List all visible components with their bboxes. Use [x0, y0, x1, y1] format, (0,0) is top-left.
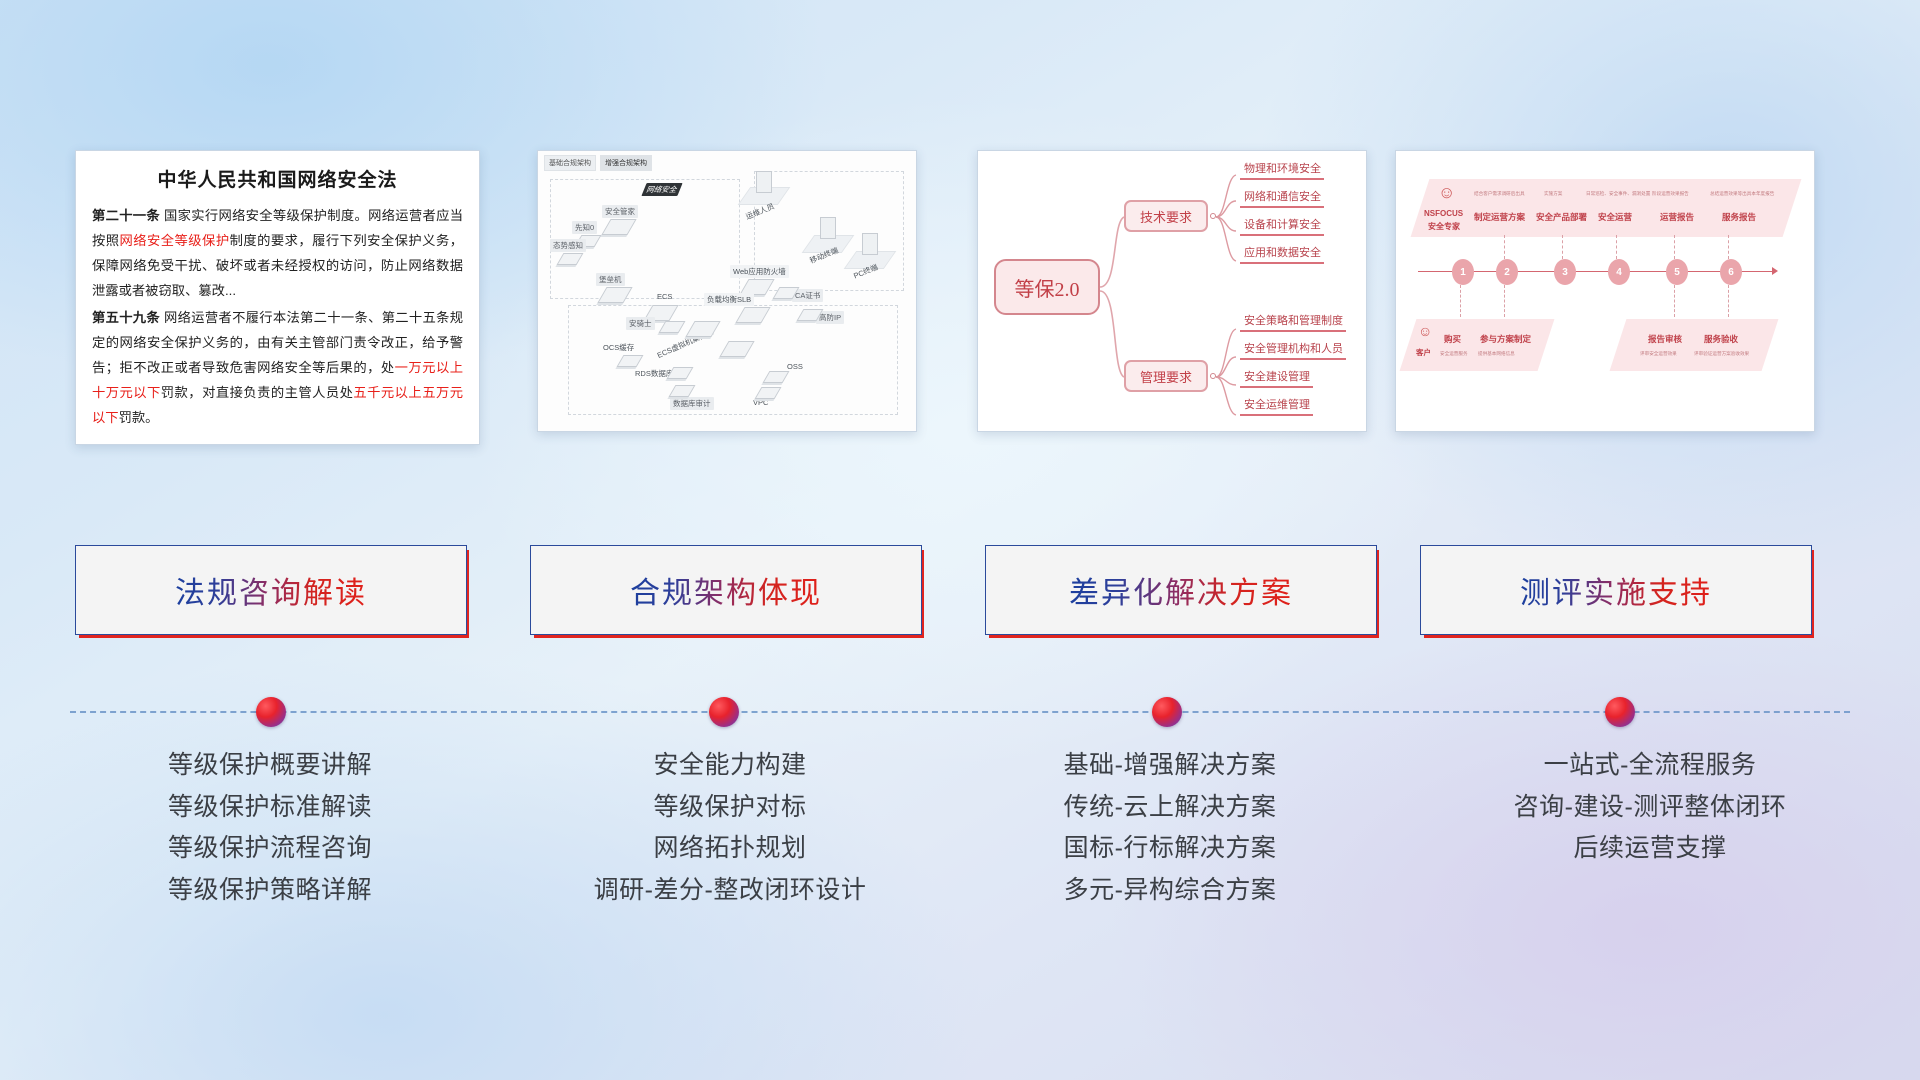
- node-bastion-host: 堡垒机: [596, 273, 625, 286]
- timeline-marker-4[interactable]: [1605, 697, 1635, 727]
- step2-bottom-title: 参与方案制定: [1480, 333, 1531, 345]
- detail-list-1: 等级保护概要讲解 等级保护标准解读 等级保护流程咨询 等级保护策略详解: [60, 745, 480, 911]
- nsfocus-timeline: ☺ NSFOCUS 安全专家 结合客户需求调研后出具 制定运营方案 实施方案 安…: [1396, 151, 1814, 431]
- timeline-node-1[interactable]: 1: [1452, 259, 1474, 285]
- card-row: 中华人民共和国网络安全法 第二十一条 国家实行网络安全等级保护制度。网络运营者应…: [0, 150, 1920, 450]
- timeline-node-3[interactable]: 3: [1554, 259, 1576, 285]
- leader-step6-top: [1728, 235, 1729, 259]
- timeline-marker-3[interactable]: [1152, 697, 1182, 727]
- mindmap-leaf-physical-env: 物理和环境安全: [1240, 163, 1324, 180]
- leader-step4-top: [1616, 235, 1617, 259]
- mindmap-leaf-device-compute: 设备和计算安全: [1240, 219, 1324, 236]
- law-article-59-label: 第五十九条: [92, 310, 160, 325]
- timeline-arrow-icon: [1772, 267, 1778, 275]
- mindmap-collapse-dot-technical[interactable]: [1210, 213, 1216, 219]
- list-item: 后续运营支撑: [1420, 828, 1880, 870]
- mindmap: 等保2.0 技术要求 物理和环境安全 网络和通信安全 设备和计算安全 应用和数据…: [978, 151, 1366, 431]
- law-article-21-highlight: 网络安全等级保护: [120, 233, 230, 248]
- pill-label-3: 差异化解决方案: [1069, 568, 1293, 612]
- node-waf: Web应用防火墙: [730, 265, 789, 278]
- step4-top-title: 运营报告: [1660, 211, 1694, 223]
- step5-top-title: 服务报告: [1722, 211, 1756, 223]
- law-article-21-label: 第二十一条: [92, 208, 160, 223]
- node-network-security: 网络安全: [641, 183, 682, 196]
- list-item: 等级保护概要讲解: [60, 745, 480, 787]
- pill-compliance-architecture[interactable]: 合规架构体现: [530, 545, 922, 635]
- list-item: 传统-云上解决方案: [960, 787, 1380, 829]
- leader-step5-bottom: [1674, 285, 1675, 317]
- law-body: 中华人民共和国网络安全法 第二十一条 国家实行网络安全等级保护制度。网络运营者应…: [76, 151, 479, 441]
- node-situational-awareness: 态势感知: [550, 239, 586, 252]
- list-item: 等级保护标准解读: [60, 787, 480, 829]
- timeline-node-2[interactable]: 2: [1496, 259, 1518, 285]
- band-expert-track: [1411, 179, 1802, 237]
- list-item: 调研-差分-整改闭环设计: [520, 870, 940, 912]
- expert-person-icon: ☺: [1438, 183, 1455, 203]
- list-item: 咨询-建设-测评整体闭环: [1420, 787, 1880, 829]
- mindmap-leaf-policy-system: 安全策略和管理制度: [1240, 315, 1346, 332]
- leader-step5-top: [1674, 235, 1675, 259]
- pill-differentiated-solution[interactable]: 差异化解决方案: [985, 545, 1377, 635]
- icon-ops-person: [756, 171, 772, 193]
- mindmap-collapse-dot-management[interactable]: [1210, 373, 1216, 379]
- icon-mobile-terminal: [820, 217, 836, 239]
- mindmap-branch-technical: 技术要求: [1124, 200, 1208, 232]
- step2-top-sub: 实施方案: [1544, 191, 1562, 197]
- timeline-node-6[interactable]: 6: [1720, 259, 1742, 285]
- node-xianzhi: 先知0: [572, 221, 597, 234]
- list-item: 网络拓扑规划: [520, 828, 940, 870]
- mindmap-leaf-app-data: 应用和数据安全: [1240, 247, 1324, 264]
- node-ecs: ECS: [654, 291, 675, 302]
- mindmap-leaf-construction-mgmt: 安全建设管理: [1240, 371, 1313, 388]
- step6-bottom-sub: 评审验证运营方案验收效果: [1694, 351, 1749, 357]
- leader-step6-bottom: [1728, 285, 1729, 317]
- step5-bottom-title: 报告审核: [1648, 333, 1682, 345]
- step3-top-title: 安全运营: [1598, 211, 1632, 223]
- law-article-59-text-c: 罚款。: [119, 410, 159, 425]
- step5-top-sub: 总结运营效果等出具本年度报告: [1710, 191, 1774, 197]
- card-dengbao-mindmap: 等保2.0 技术要求 物理和环境安全 网络和通信安全 设备和计算安全 应用和数据…: [977, 150, 1367, 432]
- expert-brand-label: NSFOCUS: [1424, 209, 1463, 218]
- node-slb: 负载均衡SLB: [704, 293, 754, 306]
- leader-step1-bottom: [1460, 285, 1461, 317]
- law-article-59-text-b: 罚款，对直接负责的主管人员处: [161, 385, 354, 400]
- pill-regulation-consulting[interactable]: 法规咨询解读: [75, 545, 467, 635]
- list-item: 等级保护流程咨询: [60, 828, 480, 870]
- detail-lists: 等级保护概要讲解 等级保护标准解读 等级保护流程咨询 等级保护策略详解 安全能力…: [0, 745, 1920, 965]
- step4-top-sub: 阶段运营效果报告: [1652, 191, 1689, 197]
- step5-bottom-sub: 评审安全运营效果: [1640, 351, 1677, 357]
- step3-top-sub: 日常巡检、安全事件、漏洞处置: [1586, 191, 1650, 197]
- mindmap-branch-management: 管理要求: [1124, 360, 1208, 392]
- expert-role-label: 安全专家: [1428, 221, 1460, 232]
- timeline-connector: [0, 697, 1920, 727]
- customer-label: 客户: [1416, 347, 1431, 358]
- mindmap-root: 等保2.0: [994, 259, 1100, 315]
- law-article-21: 第二十一条 国家实行网络安全等级保护制度。网络运营者应当按照网络安全等级保护制度…: [92, 204, 463, 303]
- slide-root: 中华人民共和国网络安全法 第二十一条 国家实行网络安全等级保护制度。网络运营者应…: [0, 0, 1920, 1080]
- list-item: 多元-异构综合方案: [960, 870, 1380, 912]
- timeline-marker-1[interactable]: [256, 697, 286, 727]
- node-db-audit: 数据库审计: [670, 397, 714, 410]
- list-item: 国标-行标解决方案: [960, 828, 1380, 870]
- pill-label-4: 测评实施支持: [1520, 568, 1712, 612]
- leader-step2-bottom: [1504, 285, 1505, 317]
- node-ocs-cache: OCS缓存: [600, 341, 637, 354]
- law-title: 中华人民共和国网络安全法: [92, 165, 463, 192]
- mindmap-leaf-org-personnel: 安全管理机构和人员: [1240, 343, 1346, 360]
- node-security-butler: 安全管家: [602, 205, 638, 218]
- card-nsfocus-service-timeline: ☺ NSFOCUS 安全专家 结合客户需求调研后出具 制定运营方案 实施方案 安…: [1395, 150, 1815, 432]
- icon-pc-terminal: [862, 233, 878, 255]
- step1-bottom-title: 购买: [1444, 333, 1461, 345]
- list-item: 一站式-全流程服务: [1420, 745, 1880, 787]
- mindmap-leaf-network-comm: 网络和通信安全: [1240, 191, 1324, 208]
- pill-evaluation-support[interactable]: 测评实施支持: [1420, 545, 1812, 635]
- step1-top-title: 制定运营方案: [1474, 211, 1525, 223]
- architecture-canvas: 网络安全 安全管家 先知0 态势感知 堡垒机 运维人员 移动终端: [544, 165, 910, 425]
- detail-list-3: 基础-增强解决方案 传统-云上解决方案 国标-行标解决方案 多元-异构综合方案: [960, 745, 1380, 911]
- timeline-node-5[interactable]: 5: [1666, 259, 1688, 285]
- pill-label-2: 合规架构体现: [630, 568, 822, 612]
- card-cybersecurity-law: 中华人民共和国网络安全法 第二十一条 国家实行网络安全等级保护制度。网络运营者应…: [75, 150, 480, 445]
- step1-bottom-sub: 安全运营服务: [1440, 351, 1468, 357]
- law-article-59: 第五十九条 网络运营者不履行本法第二十一条、第二十五条规定的网络安全保护义务的，…: [92, 306, 463, 430]
- architecture-diagram: 基础合规架构 增强合规架构 网络安全 安全管家 先知0 态势感知 堡垒机: [538, 151, 916, 431]
- timeline-dashed-line: [70, 711, 1850, 713]
- leader-step2-top: [1504, 235, 1505, 259]
- card-cloud-architecture: 基础合规架构 增强合规架构 网络安全 安全管家 先知0 态势感知 堡垒机: [537, 150, 917, 432]
- timeline-node-4[interactable]: 4: [1608, 259, 1630, 285]
- mindmap-leaf-ops-mgmt: 安全运维管理: [1240, 399, 1313, 416]
- pill-row: 法规咨询解读 合规架构体现 差异化解决方案 测评实施支持: [0, 545, 1920, 645]
- list-item: 等级保护策略详解: [60, 870, 480, 912]
- pill-label-1: 法规咨询解读: [175, 568, 367, 612]
- node-anqishi: 安骑士: [626, 317, 655, 330]
- zone-vpc: [568, 305, 898, 415]
- customer-person-icon: ☺: [1418, 323, 1432, 339]
- timeline-marker-2[interactable]: [709, 697, 739, 727]
- step1-top-sub: 结合客户需求调研后出具: [1474, 191, 1525, 197]
- list-item: 基础-增强解决方案: [960, 745, 1380, 787]
- list-item: 安全能力构建: [520, 745, 940, 787]
- step2-bottom-sub: 提供基本网络信息: [1478, 351, 1515, 357]
- leader-step3-top: [1562, 235, 1563, 259]
- band-customer-track-right: [1610, 319, 1779, 371]
- detail-list-4: 一站式-全流程服务 咨询-建设-测评整体闭环 后续运营支撑: [1420, 745, 1880, 870]
- step2-top-title: 安全产品部署: [1536, 211, 1587, 223]
- detail-list-2: 安全能力构建 等级保护对标 网络拓扑规划 调研-差分-整改闭环设计: [520, 745, 940, 911]
- list-item: 等级保护对标: [520, 787, 940, 829]
- step6-bottom-title: 服务验收: [1704, 333, 1738, 345]
